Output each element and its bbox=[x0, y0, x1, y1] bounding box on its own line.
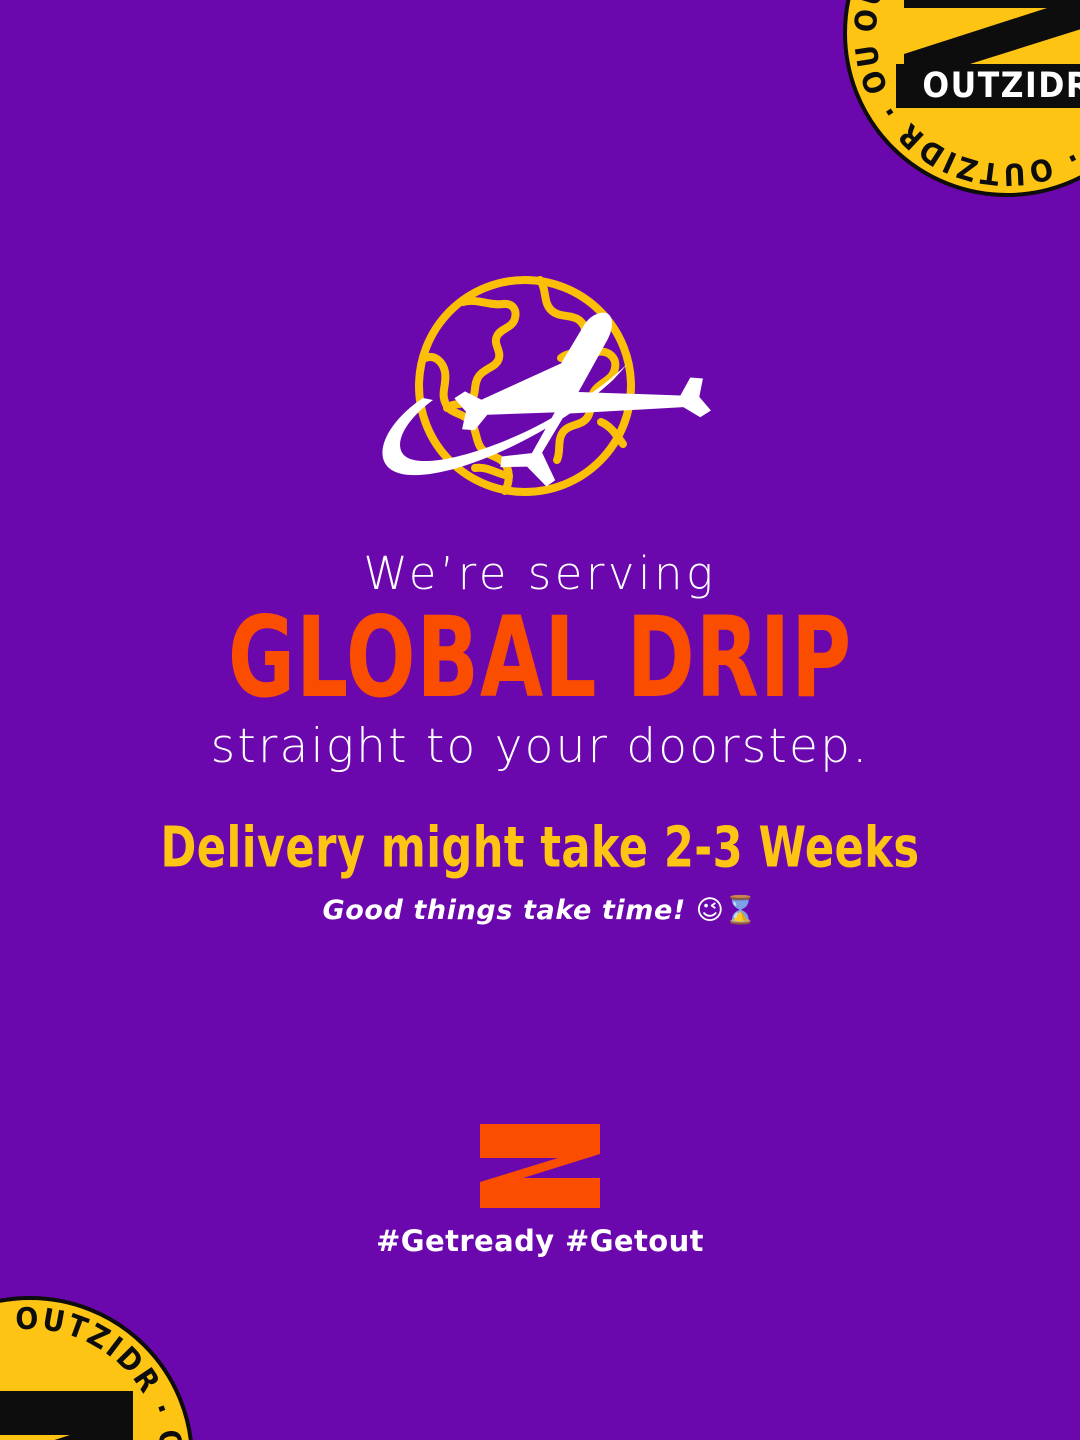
outzidr-z-logo bbox=[478, 1122, 602, 1210]
globe-airplane-artwork bbox=[0, 272, 1080, 502]
delivery-note-block: Delivery might take 2-3 Weeks Good thing… bbox=[0, 822, 1080, 927]
delivery-estimate-text: Delivery might take 2-3 Weeks bbox=[0, 818, 1080, 879]
badge-center-z-icon bbox=[0, 1391, 133, 1440]
footer-block: #Getready #Getout bbox=[0, 1122, 1080, 1258]
delivery-subtext-label: Good things take time! bbox=[322, 895, 685, 926]
poster-canvas: OUTZIDR · OUTZIDR · OUTZIDR · OUTZIDR · … bbox=[0, 0, 1080, 1440]
outzidr-stamp-badge-bottom-left: OUTZIDR · OUTZIDR · OUTZIDR · OUTZIDR · … bbox=[0, 1295, 195, 1440]
outzidr-stamp-badge-top-right: OUTZIDR · OUTZIDR · OUTZIDR · OUTZIDR · … bbox=[842, 0, 1080, 198]
headline-line-doorstep: straight to your doorstep. bbox=[0, 722, 1080, 773]
headline-line-were-serving: We’re serving bbox=[0, 550, 1080, 599]
badge-center-wordmark: OUTZIDR bbox=[896, 64, 1080, 108]
headline-block: We’re serving GLOBAL DRIP straight to yo… bbox=[0, 550, 1080, 772]
svg-text:OUTZIDR: OUTZIDR bbox=[922, 66, 1080, 106]
headline-line-global-drip: GLOBAL DRIP bbox=[43, 602, 1037, 716]
wink-hourglass-emoji: 😉⌛ bbox=[696, 895, 758, 926]
delivery-subtext: Good things take time! 😉⌛ bbox=[0, 895, 1080, 927]
footer-hashtags: #Getready #Getout bbox=[0, 1224, 1080, 1258]
